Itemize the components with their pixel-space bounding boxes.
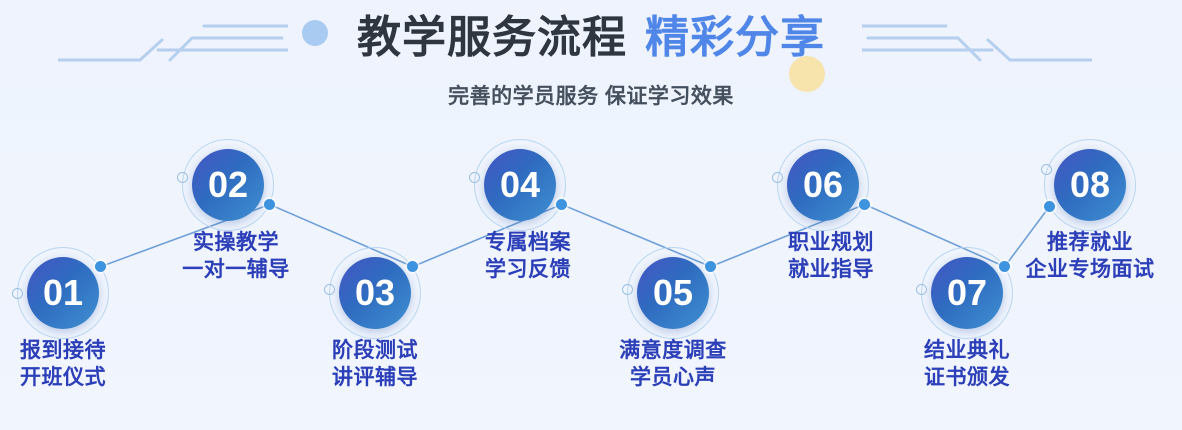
- step-label-06: 职业规划就业指导: [788, 230, 874, 284]
- step-label-07: 结业典礼证书颁发: [924, 338, 1010, 392]
- step-ring-marker-04: [469, 172, 480, 183]
- step-label-line1: 报到接待: [20, 339, 106, 362]
- step-label-line1: 满意度调查: [619, 339, 727, 362]
- step-badge-05[interactable]: 05: [637, 257, 709, 329]
- step-number: 07: [947, 275, 987, 311]
- step-label-line2: 学员心声: [619, 365, 727, 392]
- page-subtitle: 完善的学员服务 保证学习效果: [0, 80, 1182, 110]
- step-ring-marker-01: [12, 288, 23, 299]
- step-label-line1: 阶段测试: [332, 339, 418, 362]
- step-ring-marker-02: [177, 172, 188, 183]
- step-connector-dot-07: [999, 261, 1010, 272]
- step-badge-03[interactable]: 03: [339, 257, 411, 329]
- step-label-line2: 一对一辅导: [182, 257, 290, 284]
- step-label-01: 报到接待开班仪式: [20, 338, 106, 392]
- step-badge-02[interactable]: 02: [192, 149, 264, 221]
- step-label-line1: 实操教学: [193, 231, 279, 254]
- step-label-line2: 证书颁发: [924, 365, 1010, 392]
- step-label-line2: 就业指导: [788, 257, 874, 284]
- step-connector-dot-01: [95, 261, 106, 272]
- step-ring-marker-05: [622, 284, 633, 295]
- step-label-line1: 结业典礼: [924, 339, 1010, 362]
- step-label-05: 满意度调查学员心声: [619, 338, 727, 392]
- infographic-canvas: 教学服务流程精彩分享 完善的学员服务 保证学习效果 01报到接待开班仪式02实操…: [0, 0, 1182, 430]
- step-badge-08[interactable]: 08: [1054, 149, 1126, 221]
- step-connector-dot-03: [407, 261, 418, 272]
- step-badge-01[interactable]: 01: [27, 257, 99, 329]
- step-badge-07[interactable]: 07: [931, 257, 1003, 329]
- step-ring-marker-06: [772, 172, 783, 183]
- step-ring-marker-08: [1041, 164, 1052, 175]
- step-label-line2: 开班仪式: [20, 365, 106, 392]
- step-label-04: 专属档案学习反馈: [485, 230, 571, 284]
- step-label-line1: 职业规划: [788, 231, 874, 254]
- step-connector-dot-04: [556, 199, 567, 210]
- step-connector-dot-02: [264, 199, 275, 210]
- step-label-line2: 企业专场面试: [1026, 257, 1155, 284]
- step-badge-04[interactable]: 04: [484, 149, 556, 221]
- step-label-line2: 学习反馈: [485, 257, 571, 284]
- process-flow: 01报到接待开班仪式02实操教学一对一辅导03阶段测试讲评辅导04专属档案学习反…: [0, 0, 1182, 430]
- step-badge-06[interactable]: 06: [787, 149, 859, 221]
- title-primary: 教学服务流程: [357, 13, 627, 62]
- step-number: 02: [208, 167, 248, 203]
- step-label-line1: 专属档案: [485, 231, 571, 254]
- step-connector-dot-08: [1044, 201, 1055, 212]
- step-connector-dot-06: [859, 199, 870, 210]
- step-number: 03: [355, 275, 395, 311]
- step-number: 05: [653, 275, 693, 311]
- step-label-line2: 讲评辅导: [332, 365, 418, 392]
- step-label-line1: 推荐就业: [1047, 231, 1133, 254]
- step-number: 06: [803, 167, 843, 203]
- step-number: 01: [43, 275, 83, 311]
- step-label-08: 推荐就业企业专场面试: [1026, 230, 1155, 284]
- title-accent: 精彩分享: [645, 13, 825, 62]
- step-number: 04: [500, 167, 540, 203]
- step-ring-marker-07: [916, 284, 927, 295]
- step-number: 08: [1070, 167, 1110, 203]
- step-label-02: 实操教学一对一辅导: [182, 230, 290, 284]
- step-label-03: 阶段测试讲评辅导: [332, 338, 418, 392]
- step-connector-dot-05: [705, 261, 716, 272]
- step-ring-marker-03: [324, 284, 335, 295]
